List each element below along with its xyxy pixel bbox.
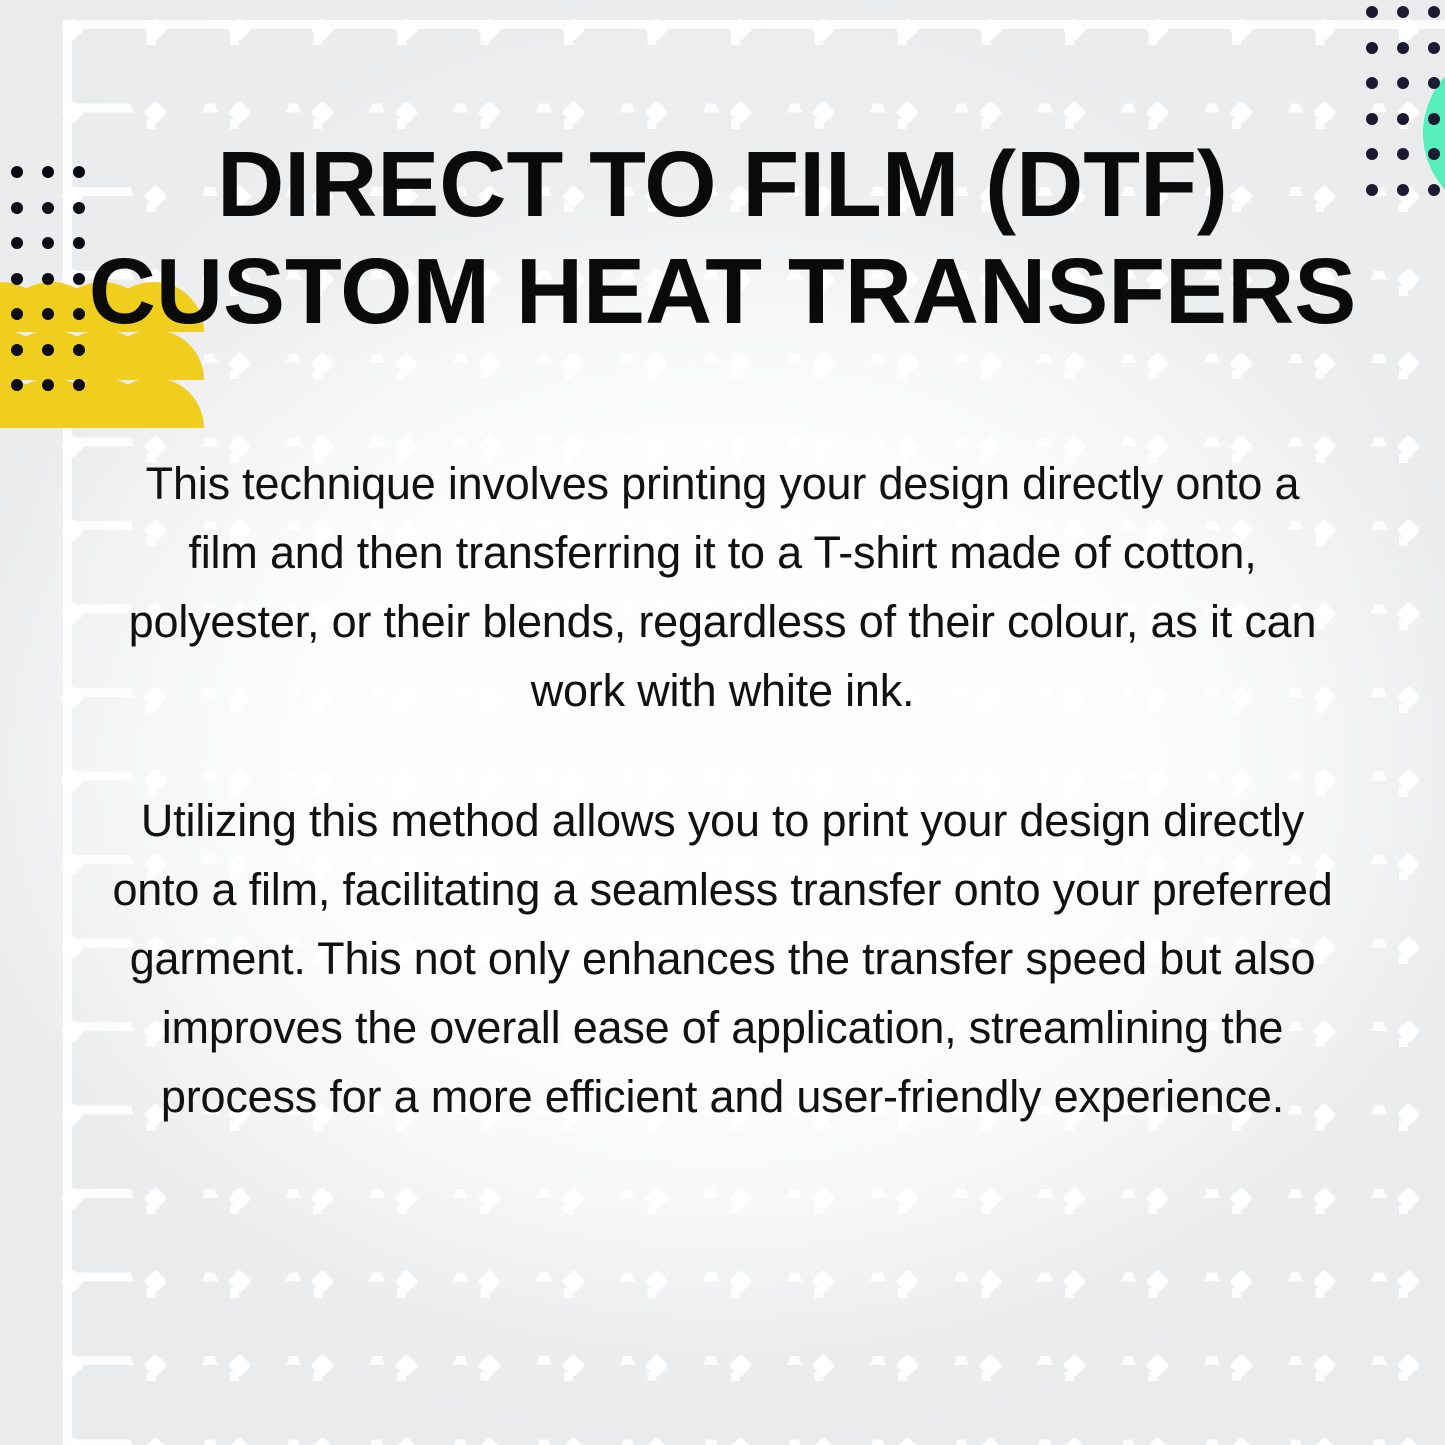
- grid-intersection-diamond: [310, 1269, 334, 1293]
- page-title-line-1: DIRECT TO FILM (DTF): [78, 138, 1367, 231]
- grid-intersection-diamond: [227, 1269, 251, 1293]
- grid-intersection-diamond: [644, 1186, 668, 1210]
- grid-intersection-diamond: [227, 1186, 251, 1210]
- grid-intersection-diamond: [1145, 1353, 1169, 1377]
- grid-intersection-diamond: [1229, 1353, 1253, 1377]
- grid-intersection-diamond: [310, 1353, 334, 1377]
- grid-intersection-diamond: [728, 1353, 752, 1377]
- grid-intersection-diamond: [1312, 1436, 1336, 1445]
- grid-intersection-diamond: [1145, 1436, 1169, 1445]
- grid-intersection-diamond: [811, 1269, 835, 1293]
- grid-intersection-diamond: [143, 1186, 167, 1210]
- grid-intersection-diamond: [394, 1436, 418, 1445]
- grid-intersection-diamond: [644, 1353, 668, 1377]
- grid-intersection-diamond: [1312, 1353, 1336, 1377]
- grid-intersection-diamond: [477, 1436, 501, 1445]
- grid-intersection-diamond: [1145, 1186, 1169, 1210]
- body-paragraph-2: Utilizing this method allows you to prin…: [78, 787, 1367, 1131]
- grid-intersection-diamond: [1145, 1269, 1169, 1293]
- grid-intersection-diamond: [60, 1186, 84, 1210]
- grid-intersection-diamond: [60, 1269, 84, 1293]
- grid-intersection-diamond: [1062, 1353, 1086, 1377]
- grid-intersection-diamond: [60, 1436, 84, 1445]
- grid-intersection-diamond: [978, 1186, 1002, 1210]
- grid-intersection-diamond: [1396, 1436, 1420, 1445]
- grid-intersection-diamond: [1062, 1269, 1086, 1293]
- grid-intersection-diamond: [978, 1436, 1002, 1445]
- grid-intersection-diamond: [394, 1353, 418, 1377]
- grid-intersection-diamond: [978, 1353, 1002, 1377]
- grid-intersection-diamond: [895, 1269, 919, 1293]
- grid-intersection-diamond: [811, 1186, 835, 1210]
- grid-intersection-diamond: [143, 1353, 167, 1377]
- grid-intersection-diamond: [477, 1269, 501, 1293]
- grid-intersection-diamond: [895, 1353, 919, 1377]
- grid-intersection-diamond: [561, 1436, 585, 1445]
- body-paragraph-1: This technique involves printing your de…: [78, 450, 1367, 725]
- grid-intersection-diamond: [1062, 1436, 1086, 1445]
- grid-intersection-diamond: [1062, 1186, 1086, 1210]
- grid-intersection-diamond: [1229, 1269, 1253, 1293]
- grid-intersection-diamond: [895, 1436, 919, 1445]
- grid-intersection-diamond: [227, 1436, 251, 1445]
- grid-intersection-diamond: [895, 1186, 919, 1210]
- grid-intersection-diamond: [394, 1186, 418, 1210]
- grid-intersection-diamond: [811, 1353, 835, 1377]
- grid-intersection-diamond: [1229, 1186, 1253, 1210]
- grid-intersection-diamond: [143, 1436, 167, 1445]
- grid-intersection-diamond: [1229, 1436, 1253, 1445]
- poster-content: DIRECT TO FILM (DTF) CUSTOM HEAT TRANSFE…: [0, 0, 1445, 1132]
- grid-intersection-diamond: [310, 1186, 334, 1210]
- grid-intersection-diamond: [561, 1269, 585, 1293]
- grid-intersection-diamond: [477, 1186, 501, 1210]
- grid-intersection-diamond: [1396, 1269, 1420, 1293]
- grid-intersection-diamond: [728, 1436, 752, 1445]
- grid-intersection-diamond: [728, 1269, 752, 1293]
- grid-intersection-diamond: [227, 1353, 251, 1377]
- page-title: DIRECT TO FILM (DTF) CUSTOM HEAT TRANSFE…: [78, 0, 1367, 338]
- grid-intersection-diamond: [1312, 1186, 1336, 1210]
- grid-intersection-diamond: [644, 1269, 668, 1293]
- grid-intersection-diamond: [310, 1436, 334, 1445]
- grid-intersection-diamond: [644, 1436, 668, 1445]
- page-title-line-2: CUSTOM HEAT TRANSFERS: [78, 245, 1367, 338]
- grid-intersection-diamond: [1396, 1353, 1420, 1377]
- grid-intersection-diamond: [394, 1269, 418, 1293]
- poster-canvas: DIRECT TO FILM (DTF) CUSTOM HEAT TRANSFE…: [0, 0, 1445, 1445]
- grid-intersection-diamond: [728, 1186, 752, 1210]
- grid-intersection-diamond: [477, 1353, 501, 1377]
- grid-intersection-diamond: [561, 1186, 585, 1210]
- grid-intersection-diamond: [561, 1353, 585, 1377]
- grid-intersection-diamond: [811, 1436, 835, 1445]
- grid-intersection-diamond: [978, 1269, 1002, 1293]
- grid-intersection-diamond: [143, 1269, 167, 1293]
- grid-intersection-diamond: [1312, 1269, 1336, 1293]
- grid-intersection-diamond: [60, 1353, 84, 1377]
- grid-intersection-diamond: [1396, 1186, 1420, 1210]
